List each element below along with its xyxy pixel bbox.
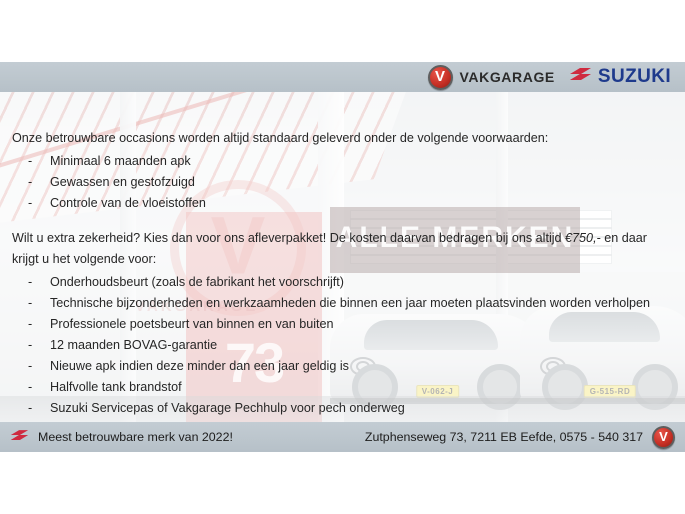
offer-price: €750,- bbox=[565, 231, 601, 245]
bullet-dash: - bbox=[28, 356, 32, 377]
list-item-label: Onderhoudsbeurt (zoals de fabrikant het … bbox=[50, 275, 344, 289]
suzuki-logo: SUZUKI bbox=[569, 66, 671, 88]
footer-address-group: Zutphenseweg 73, 7211 EB Eefde, 0575 - 5… bbox=[365, 422, 675, 452]
bullet-dash: - bbox=[28, 314, 32, 335]
body-copy: Onze betrouwbare occasions worden altijd… bbox=[12, 128, 674, 419]
list-item: -Gewassen en gestofzuigd bbox=[12, 172, 674, 193]
package-contents-list: -Onderhoudsbeurt (zoals de fabrikant het… bbox=[12, 272, 674, 419]
bullet-dash: - bbox=[28, 398, 32, 419]
suzuki-s-icon-footer bbox=[10, 429, 29, 446]
list-item: -Halfvolle tank brandstof bbox=[12, 377, 674, 398]
vakgarage-v-icon-footer bbox=[652, 426, 675, 449]
bullet-dash: - bbox=[28, 193, 32, 214]
list-item: -Onderhoudsbeurt (zoals de fabrikant het… bbox=[12, 272, 674, 293]
bullet-dash: - bbox=[28, 151, 32, 172]
list-item: -12 maanden BOVAG-garantie bbox=[12, 335, 674, 356]
offer-paragraph: Wilt u extra zekerheid? Kies dan voor on… bbox=[12, 228, 674, 270]
footer-tagline: Meest betrouwbare merk van 2022! bbox=[38, 430, 233, 444]
list-item-label: Suzuki Servicepas of Vakgarage Pechhulp … bbox=[50, 401, 405, 415]
list-item: -Controle van de vloeistoffen bbox=[12, 193, 674, 214]
list-item-label: Halfvolle tank brandstof bbox=[50, 380, 182, 394]
bullet-dash: - bbox=[28, 272, 32, 293]
vakgarage-wordmark: VAKGARAGE bbox=[460, 69, 555, 85]
header-logo-group: VAKGARAGE SUZUKI bbox=[428, 64, 672, 90]
footer-address: Zutphenseweg 73, 7211 EB Eefde, 0575 - 5… bbox=[365, 430, 643, 444]
bullet-dash: - bbox=[28, 377, 32, 398]
list-item-label: 12 maanden BOVAG-garantie bbox=[50, 338, 217, 352]
vakgarage-logo: VAKGARAGE bbox=[428, 65, 555, 90]
bullet-dash: - bbox=[28, 335, 32, 356]
bullet-dash: - bbox=[28, 293, 32, 314]
list-item-label: Minimaal 6 maanden apk bbox=[50, 154, 191, 168]
suzuki-s-icon bbox=[569, 67, 592, 87]
list-item: -Suzuki Servicepas of Vakgarage Pechhulp… bbox=[12, 398, 674, 419]
list-item-label: Gewassen en gestofzuigd bbox=[50, 175, 195, 189]
footer-tagline-group: Meest betrouwbare merk van 2022! bbox=[10, 422, 233, 452]
suzuki-wordmark: SUZUKI bbox=[598, 66, 671, 88]
list-item-label: Controle van de vloeistoffen bbox=[50, 196, 206, 210]
standard-conditions-list: -Minimaal 6 maanden apk -Gewassen en ges… bbox=[12, 151, 674, 214]
list-item: -Nieuwe apk indien deze minder dan een j… bbox=[12, 356, 674, 377]
vakgarage-v-icon bbox=[428, 65, 453, 90]
list-item-label: Nieuwe apk indien deze minder dan een ja… bbox=[50, 359, 349, 373]
list-item-label: Technische bijzonderheden en werkzaamhed… bbox=[50, 296, 650, 310]
intro-paragraph: Onze betrouwbare occasions worden altijd… bbox=[12, 128, 674, 149]
list-item: -Minimaal 6 maanden apk bbox=[12, 151, 674, 172]
bullet-dash: - bbox=[28, 172, 32, 193]
list-item-label: Professionele poetsbeurt van binnen en v… bbox=[50, 317, 334, 331]
list-item: -Technische bijzonderheden en werkzaamhe… bbox=[12, 293, 674, 314]
offer-text-part1: Wilt u extra zekerheid? Kies dan voor on… bbox=[12, 231, 565, 245]
slide-canvas: 73 VAKGARAGE ALLE MERKEN V-062-J G-515-R… bbox=[0, 0, 685, 514]
list-item: -Professionele poetsbeurt van binnen en … bbox=[12, 314, 674, 335]
